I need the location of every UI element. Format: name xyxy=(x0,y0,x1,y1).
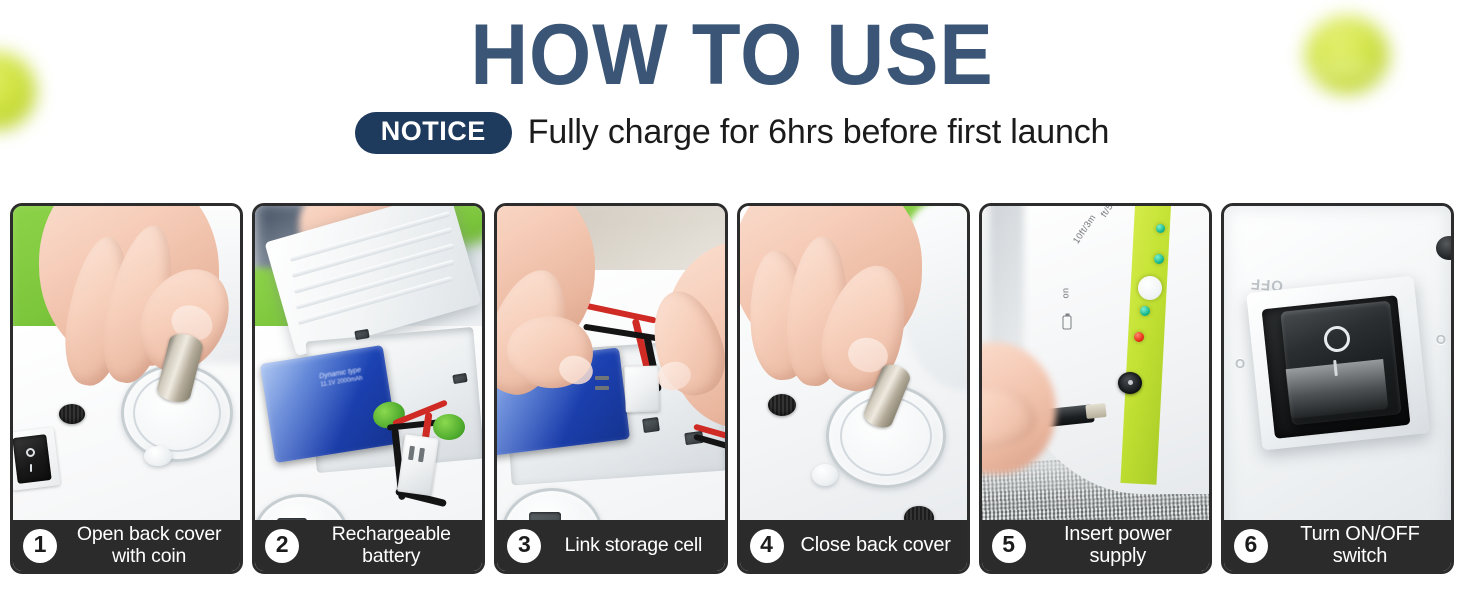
photo-turn-on-off-switch: OFF O l O 6 Turn ON/OFF switch xyxy=(1224,206,1451,571)
battery-gloss xyxy=(260,345,398,463)
step-number-badge: 5 xyxy=(992,529,1026,563)
step-number-badge: 6 xyxy=(1234,529,1268,563)
page-title: HOW TO USE xyxy=(51,8,1413,103)
caption-bar: 2 Rechargeable battery xyxy=(255,520,482,571)
white-nub xyxy=(144,446,172,466)
notice-badge: NOTICE xyxy=(355,112,512,154)
device-connector-female xyxy=(625,365,661,412)
status-button[interactable] xyxy=(1138,276,1162,300)
caption-text: Open back cover with coin xyxy=(66,524,232,566)
caption-bar: 4 Close back cover xyxy=(740,520,967,571)
photo-link-storage-cell: 3 Link storage cell xyxy=(497,206,724,571)
caption-text: Link storage cell xyxy=(550,535,716,556)
rubber-foot xyxy=(59,404,85,424)
on-label: on xyxy=(1060,288,1070,299)
caption-bar: 1 Open back cover with coin xyxy=(13,520,240,571)
switch-off-marking-icon xyxy=(26,448,35,457)
caption-bar: 3 Link storage cell xyxy=(497,520,724,571)
rocker-switch[interactable] xyxy=(13,434,52,484)
dc-jack-pin xyxy=(1128,380,1133,385)
power-plug-tip xyxy=(1085,403,1106,419)
notice-row: NOTICE Fully charge for 6hrs before firs… xyxy=(0,111,1464,155)
connector-slot xyxy=(595,376,609,380)
white-nub xyxy=(812,464,838,486)
step-panel-link-storage-cell[interactable]: 3 Link storage cell xyxy=(494,203,727,574)
photo-close-back-cover: 4 Close back cover xyxy=(740,206,967,571)
step-panel-turn-on-off-switch[interactable]: OFF O l O 6 Turn ON/OFF switch xyxy=(1221,203,1454,574)
step-number-badge: 2 xyxy=(265,529,299,563)
caption-text: Insert power supply xyxy=(1035,524,1201,567)
notice-text: Fully charge for 6hrs before first launc… xyxy=(528,113,1109,152)
steps-panel-strip: 1 Open back cover with coin xyxy=(10,203,1454,574)
caption-text: Close back cover xyxy=(793,535,959,557)
header: HOW TO USE NOTICE Fully charge for 6hrs … xyxy=(0,0,1464,155)
lid-latch-slot xyxy=(642,417,660,433)
rubber-foot xyxy=(768,394,796,416)
caption-text: Turn ON/OFF switch xyxy=(1277,524,1443,567)
step-number-badge: 4 xyxy=(750,529,784,563)
caption-text: Rechargeable battery xyxy=(308,524,474,566)
switch-o-emboss-icon-2: O xyxy=(1436,332,1447,347)
step-panel-rechargeable-battery[interactable]: Dynamic type 11.1V 2000mAh 2 Rechargeabl… xyxy=(252,203,485,574)
connector-slot xyxy=(595,386,609,390)
led-indicator-3 xyxy=(1140,306,1150,316)
photo-insert-power-supply: ft/5m 10ft/3m on 5 Insert power supply xyxy=(982,206,1209,571)
cell-end-cap xyxy=(433,414,465,440)
switch-on-marking-icon xyxy=(30,464,32,472)
caption-bar: 5 Insert power supply xyxy=(982,520,1209,571)
step-panel-insert-power-supply[interactable]: ft/5m 10ft/3m on 5 Insert power supply xyxy=(979,203,1212,574)
step-panel-open-back-cover-with-coin[interactable]: 1 Open back cover with coin xyxy=(10,203,243,574)
step-number-badge: 1 xyxy=(23,529,57,563)
led-indicator-charging xyxy=(1134,332,1144,342)
switch-o-emboss-icon: O xyxy=(1234,356,1245,371)
caption-bar: 6 Turn ON/OFF switch xyxy=(1224,520,1451,571)
photo-rechargeable-battery: Dynamic type 11.1V 2000mAh 2 Rechargeabl… xyxy=(255,206,482,571)
led-indicator-2 xyxy=(1154,254,1164,264)
led-indicator-1 xyxy=(1156,224,1165,233)
step-panel-close-back-cover[interactable]: 4 Close back cover xyxy=(737,203,970,574)
step-number-badge: 3 xyxy=(507,529,541,563)
photo-open-back-cover-with-coin: 1 Open back cover with coin xyxy=(13,206,240,571)
battery-status-icon xyxy=(1062,316,1071,330)
